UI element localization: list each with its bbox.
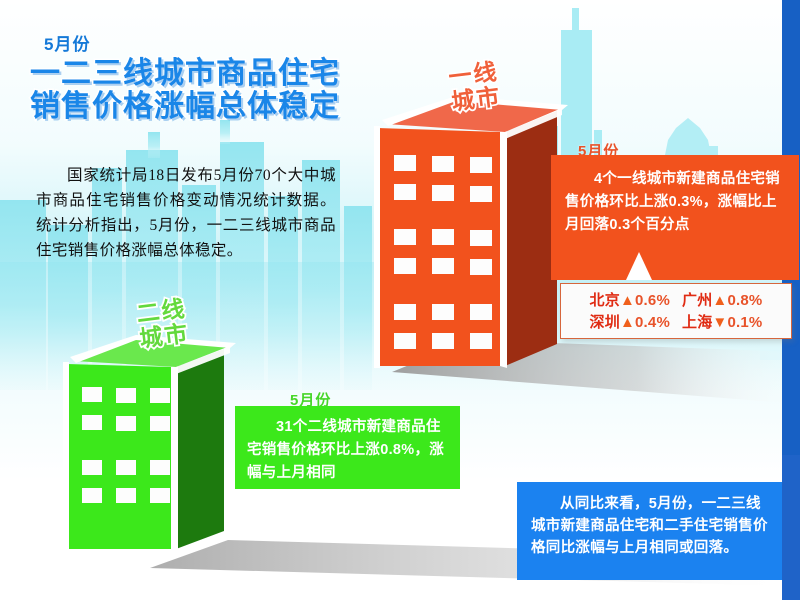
page-title-line-1: 一二三线城市商品住宅 (30, 57, 370, 90)
building-tier2 (62, 335, 252, 550)
city-data-guangzhou: 广州▲0.8% (682, 290, 762, 312)
city-data-shenzhen: 深圳▲0.4% (590, 312, 670, 334)
window (82, 488, 102, 503)
building-tier2-shape (62, 335, 252, 553)
table-row: 北京▲0.6% 广州▲0.8% (561, 290, 791, 312)
city-name: 北京 (590, 292, 620, 309)
window (394, 333, 416, 349)
up-arrow-icon: ▲ (620, 314, 635, 331)
up-arrow-icon: ▲ (712, 292, 727, 309)
window (432, 156, 454, 172)
window (432, 229, 454, 245)
city-name: 深圳 (590, 314, 620, 331)
tier1-callout-text: 4个一线城市新建商品住宅销售价格环比上涨0.3%，涨幅比上月回落0.3个百分点 (565, 168, 787, 237)
window (432, 304, 454, 320)
city-name: 上海 (682, 314, 712, 331)
window (82, 387, 102, 402)
city-value: 0.8% (727, 292, 762, 309)
table-row: 深圳▲0.4% 上海▼0.1% (561, 312, 791, 334)
window (470, 304, 492, 320)
page-title: 一二三线城市商品住宅 销售价格涨幅总体稳定 (30, 57, 370, 123)
window (394, 229, 416, 245)
city-value: 0.1% (727, 314, 762, 331)
window (82, 415, 102, 430)
callout-pointer-triangle (626, 252, 652, 280)
window (432, 333, 454, 349)
city-data-beijing: 北京▲0.6% (590, 290, 670, 312)
city-data-table: 北京▲0.6% 广州▲0.8% 深圳▲0.4% 上海▼0.1% (560, 283, 792, 339)
window (150, 388, 170, 403)
lead-paragraph: 国家统计局18日发布5月份70个大中城市商品住宅销售价格变动情况统计数据。统计分… (36, 163, 336, 263)
window (470, 230, 492, 246)
window (82, 460, 102, 475)
city-value: 0.6% (635, 292, 670, 309)
window (470, 157, 492, 173)
window (150, 488, 170, 503)
window (116, 488, 136, 503)
window (116, 416, 136, 431)
city-value: 0.4% (635, 314, 670, 331)
right-edge-bar-bottom (782, 455, 800, 600)
window (150, 416, 170, 431)
tier2-callout-text: 31个二线城市新建商品住宅销售价格环比上涨0.8%，涨幅与上月相同 (247, 416, 450, 485)
window (394, 155, 416, 171)
tier2-callout-box: 31个二线城市新建商品住宅销售价格环比上涨0.8%，涨幅与上月相同 (235, 406, 460, 489)
tier1-callout-box: 4个一线城市新建商品住宅销售价格环比上涨0.3%，涨幅比上月回落0.3个百分点 (551, 155, 799, 280)
infographic-canvas: 5月份 一二三线城市商品住宅 销售价格涨幅总体稳定 国家统计局18日发布5月份7… (0, 0, 800, 600)
note-callout-text: 从同比来看，5月份，一二三线城市新建商品住宅和二手住宅销售价格同比涨幅与上月相同… (531, 493, 770, 559)
window (116, 460, 136, 475)
city-name: 广州 (682, 292, 712, 309)
window (432, 258, 454, 274)
note-callout-box: 从同比来看，5月份，一二三线城市新建商品住宅和二手住宅销售价格同比涨幅与上月相同… (517, 482, 782, 580)
headline-kicker: 5月份 (44, 30, 90, 55)
window (432, 185, 454, 201)
window (394, 258, 416, 274)
window (470, 333, 492, 349)
window (394, 304, 416, 320)
window (116, 388, 136, 403)
window (470, 186, 492, 202)
window (470, 259, 492, 275)
window (150, 460, 170, 475)
window (394, 184, 416, 200)
up-arrow-icon: ▲ (620, 292, 635, 309)
page-title-line-2: 销售价格涨幅总体稳定 (30, 90, 370, 123)
city-data-shanghai: 上海▼0.1% (682, 312, 762, 334)
down-arrow-icon: ▼ (712, 314, 727, 331)
